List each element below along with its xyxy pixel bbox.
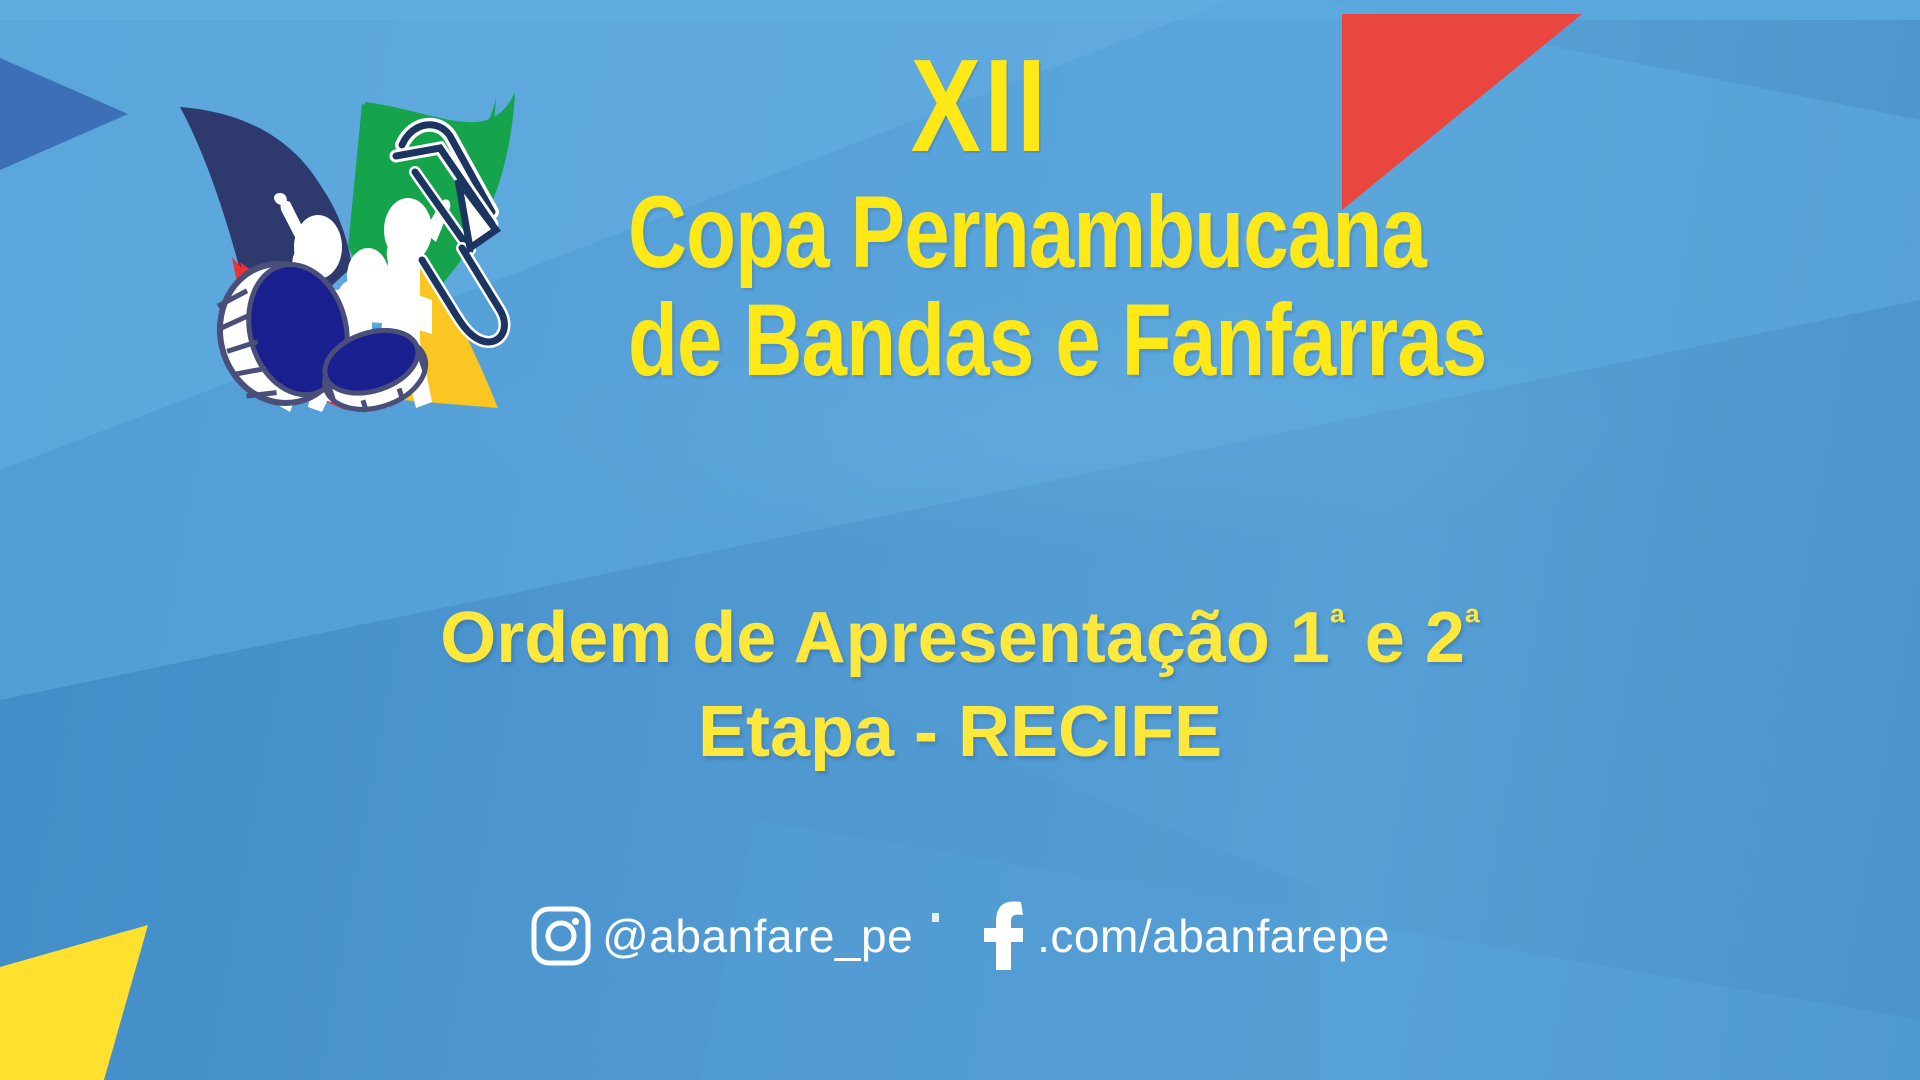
abanfare-band-logo <box>140 52 540 417</box>
subtitle-ordinal-1: ª <box>1330 600 1345 646</box>
instagram-link[interactable]: @abanfare_pe <box>530 905 913 967</box>
subtitle-block: Ordem de Apresentação 1ª e 2ª Etapa - RE… <box>160 592 1760 779</box>
edition-numeral: XII <box>628 40 1332 172</box>
headline-block: XII Copa Pernambucana de Bandas e Fanfar… <box>540 40 1420 394</box>
subtitle-ordinal-2: ª <box>1465 600 1480 646</box>
subtitle-line-1: Ordem de Apresentação 1ª e 2ª <box>160 592 1760 686</box>
subtitle-line-1-text: Ordem de Apresentação 1 <box>440 598 1330 678</box>
subtitle-line-1-mid: e 2 <box>1345 598 1465 678</box>
title-line-1: Copa Pernambucana <box>628 178 1332 286</box>
title-line-2: de Bandas e Fanfarras <box>628 286 1332 394</box>
instagram-icon <box>530 905 592 967</box>
facebook-handle: .com/abanfarepe <box>1037 909 1390 963</box>
subtitle-line-2: Etapa - RECIFE <box>160 686 1760 780</box>
facebook-icon <box>981 900 1025 972</box>
social-footer: @abanfare_pe .com/abanfarepe <box>0 900 1920 972</box>
facebook-link[interactable]: .com/abanfarepe <box>981 900 1390 972</box>
instagram-handle: @abanfare_pe <box>602 909 913 963</box>
poster-canvas: XII Copa Pernambucana de Bandas e Fanfar… <box>0 0 1920 1080</box>
